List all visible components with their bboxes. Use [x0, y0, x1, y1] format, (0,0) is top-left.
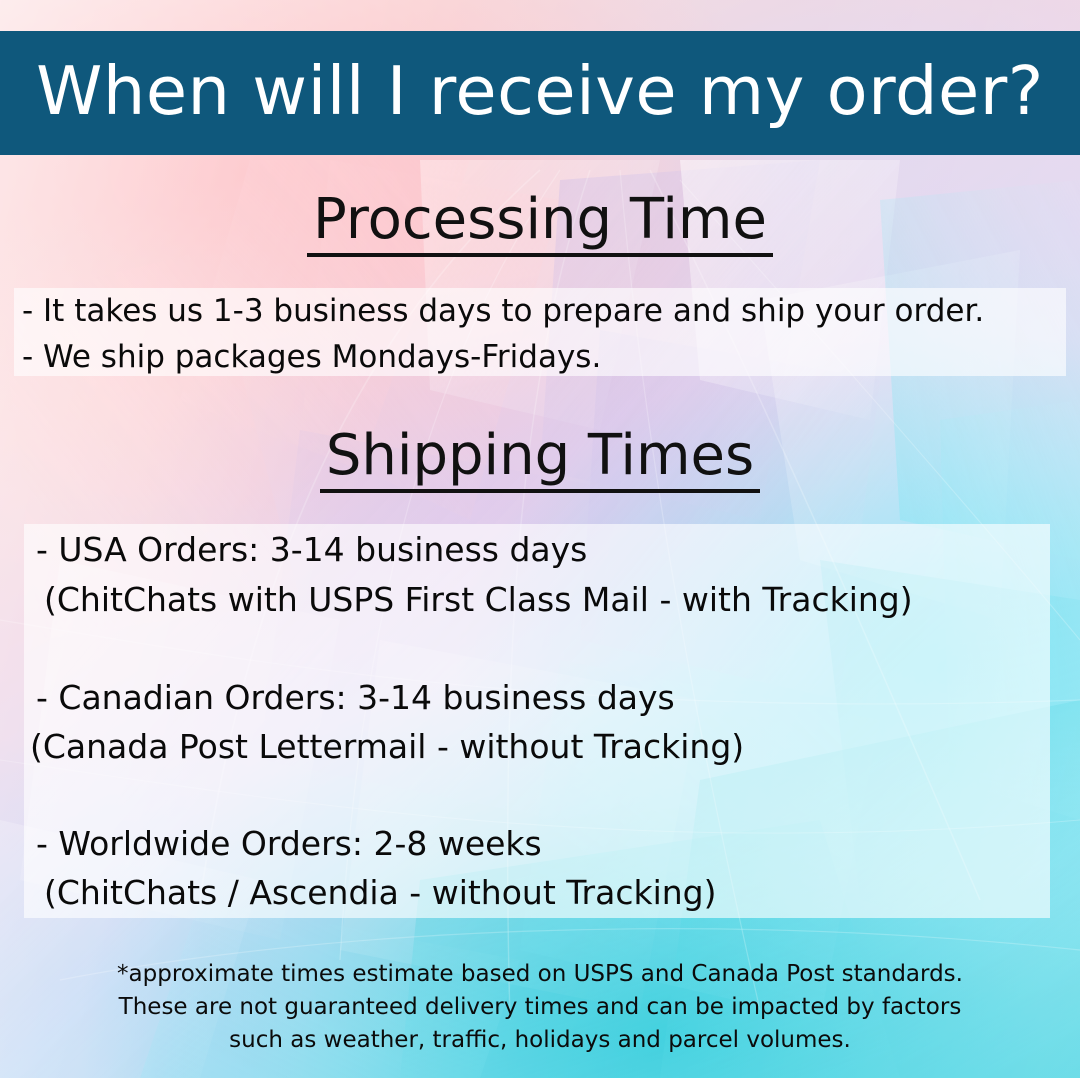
section-heading-shipping-times: Shipping Times: [0, 428, 1080, 493]
footnote-line-1: *approximate times estimate based on USP…: [0, 958, 1080, 991]
shipping-entry-usa-line-1: - USA Orders: 3-14 business days: [36, 533, 587, 566]
content-area: Processing Time - It takes us 1-3 busine…: [0, 0, 1080, 1078]
section-heading-shipping-times-label: Shipping Times: [320, 428, 760, 493]
processing-line-2: - We ship packages Mondays-Fridays.: [22, 342, 601, 373]
footnote-line-3: such as weather, traffic, holidays and p…: [0, 1024, 1080, 1057]
shipping-entry-worldwide-line-2: (ChitChats / Ascendia - without Tracking…: [44, 876, 717, 909]
section-heading-processing-time: Processing Time: [0, 192, 1080, 257]
shipping-entry-canada-line-2: (Canada Post Lettermail - without Tracki…: [30, 730, 744, 763]
processing-line-1: - It takes us 1-3 business days to prepa…: [22, 296, 984, 327]
shipping-entry-usa-line-2: (ChitChats with USPS First Class Mail - …: [44, 583, 913, 616]
footnote-line-2: These are not guaranteed delivery times …: [0, 991, 1080, 1024]
footnote: *approximate times estimate based on USP…: [0, 958, 1080, 1057]
section-heading-processing-time-label: Processing Time: [307, 192, 773, 257]
shipping-entry-canada-line-1: - Canadian Orders: 3-14 business days: [36, 681, 675, 714]
poster-canvas: When will I receive my order? Processing…: [0, 0, 1080, 1078]
shipping-entry-worldwide-line-1: - Worldwide Orders: 2-8 weeks: [36, 827, 542, 860]
